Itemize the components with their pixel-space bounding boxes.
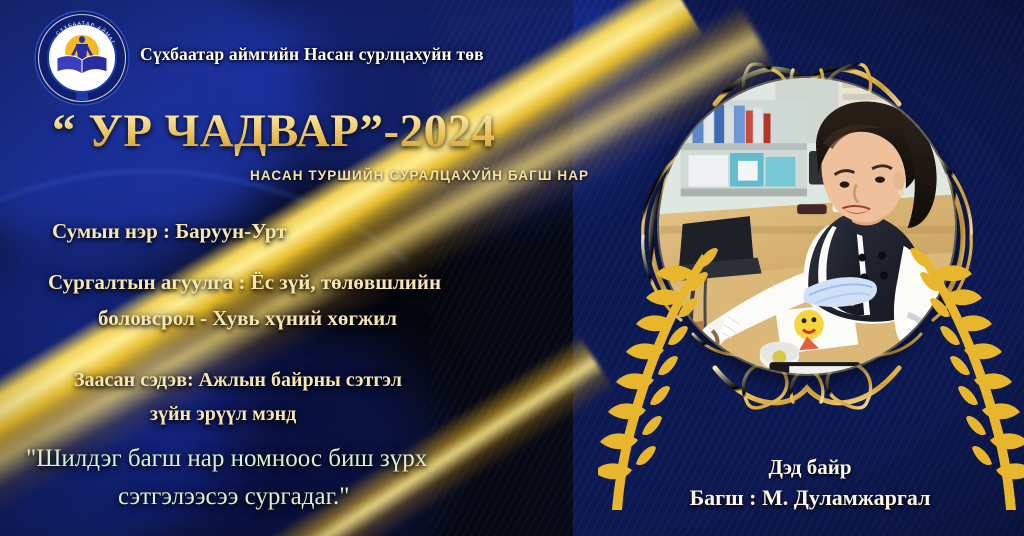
organization-logo: СҮХБААТАР АЙМАГ ••••• ••••• ••••••••	[32, 8, 132, 108]
teacher-photo	[659, 78, 955, 374]
award-teacher: Багш : М. Дуламжаргал	[600, 485, 1020, 511]
page-subtitle: НАСАН ТУРШИЙН СУРАЛЦАХУЙН БАГШ НАР	[250, 168, 589, 183]
organization-name: Сүхбаатар аймгийн Насан сурлцахуйн төв	[140, 44, 484, 65]
emblem-book-sun-icon: СҮХБААТАР АЙМАГ ••••• ••••• ••••••••	[32, 8, 132, 108]
award-place: Дэд байр	[600, 455, 1020, 480]
assigned-topic-line-2: зүйн эрүүл мэнд	[150, 403, 296, 426]
assigned-topic-line-1: Заасан сэдэв: Ажлын байрны сэтгэл	[74, 369, 402, 392]
quote-line-1: "Шилдэг багш нар номноос биш зүрх	[26, 445, 427, 473]
quote-line-2: сэтгэлээсээ сургадаг."	[118, 483, 349, 511]
soum-name-line: Сумын нэр : Баруун-Урт	[52, 219, 287, 244]
training-content-line-1: Сургалтын агуулга : Ёс зүй, төлөвшлийн	[48, 270, 441, 295]
portrait-block	[637, 58, 977, 398]
teacher-portrait-image	[659, 78, 955, 374]
training-content-line-2: боловсрол - Хувь хүний хөгжил	[98, 306, 397, 331]
page-title: “ УР ЧАДВАР”-2024	[52, 104, 572, 158]
certificate-slide: СҮХБААТАР АЙМАГ ••••• ••••• ••••••••	[0, 0, 1024, 536]
